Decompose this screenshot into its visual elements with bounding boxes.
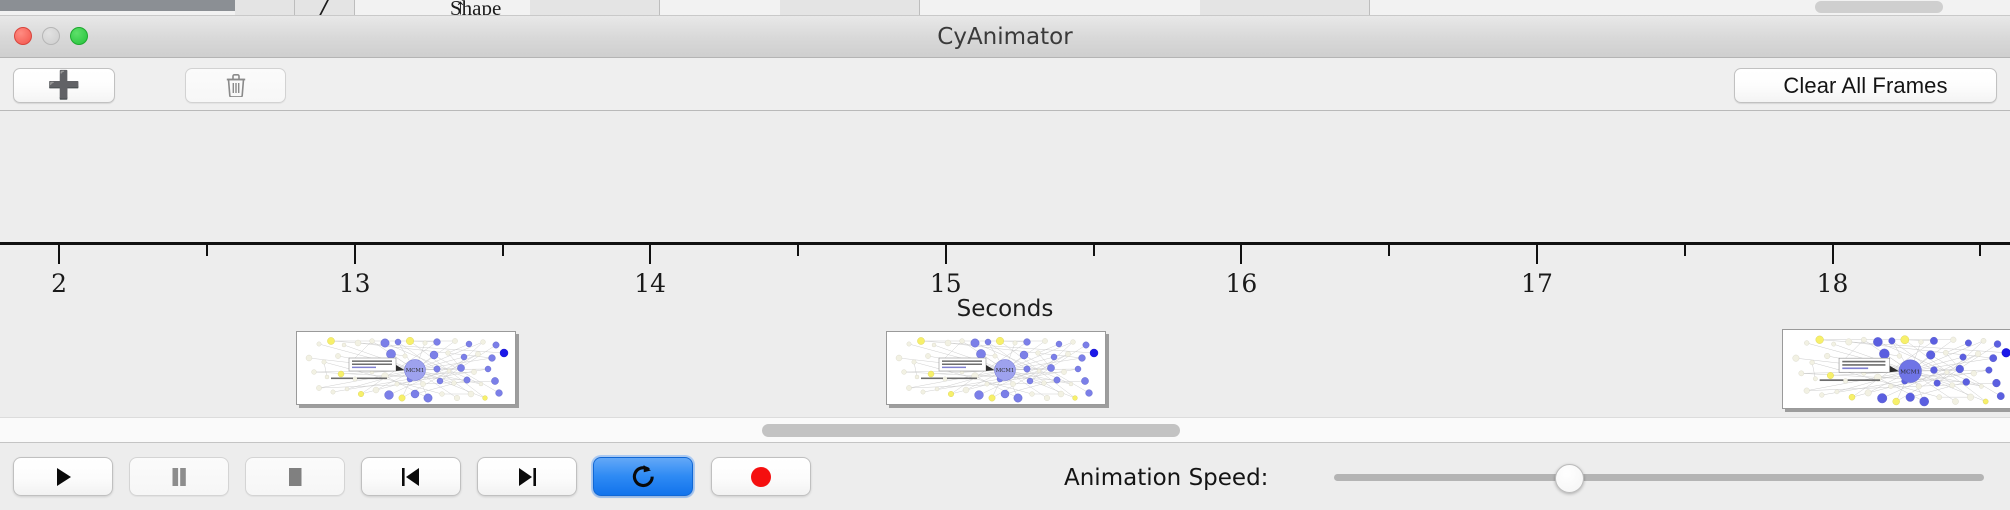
titlebar: CyAnimator bbox=[0, 16, 2010, 58]
svg-text:MCM1: MCM1 bbox=[406, 368, 425, 374]
axis-tick-label: 14 bbox=[634, 269, 666, 298]
add-frame-button[interactable]: ➕ bbox=[13, 68, 115, 103]
background-desktop-strip: ╱ ↑ Shape bbox=[0, 0, 2010, 16]
slider-track[interactable] bbox=[1334, 474, 1984, 481]
background-tile bbox=[780, 0, 920, 15]
background-tile bbox=[1200, 0, 1370, 15]
axis-tick-major bbox=[649, 245, 651, 264]
background-shape-label: Shape bbox=[450, 0, 501, 16]
slider-thumb[interactable] bbox=[1555, 464, 1584, 493]
axis-tick-minor bbox=[1093, 245, 1095, 256]
axis-tick-minor bbox=[1979, 245, 1981, 256]
background-tile bbox=[235, 0, 295, 15]
background-tile bbox=[530, 0, 660, 15]
axis-tick-label: 16 bbox=[1225, 269, 1257, 298]
axis-tick-major bbox=[1832, 245, 1834, 264]
skip-next-icon bbox=[514, 465, 540, 489]
toolbar: ➕ Clear All Frames bbox=[0, 58, 2010, 111]
skip-previous-icon bbox=[398, 465, 424, 489]
record-icon bbox=[749, 465, 773, 489]
previous-frame-button[interactable] bbox=[361, 457, 461, 496]
axis-line bbox=[0, 242, 2010, 245]
timeline-frame[interactable]: MCM1 bbox=[886, 331, 1106, 405]
axis-tick-major bbox=[354, 245, 356, 264]
animation-speed-slider[interactable] bbox=[1334, 457, 1984, 496]
loop-icon bbox=[630, 463, 657, 490]
background-scrollbar bbox=[1815, 1, 1943, 13]
svg-text:MCM1: MCM1 bbox=[996, 368, 1015, 374]
axis-tick-major bbox=[58, 245, 60, 264]
scrollbar-thumb[interactable] bbox=[762, 424, 1180, 437]
axis-tick-major bbox=[1536, 245, 1538, 264]
trash-icon bbox=[226, 74, 246, 97]
play-icon bbox=[51, 465, 75, 489]
axis-tick-label: 17 bbox=[1521, 269, 1553, 298]
timeline-axis: 2131415161718 bbox=[0, 242, 2010, 243]
window-title: CyAnimator bbox=[0, 16, 2010, 58]
axis-tick-major bbox=[1240, 245, 1242, 264]
axis-tick-minor bbox=[206, 245, 208, 256]
clear-all-frames-label: Clear All Frames bbox=[1783, 73, 1947, 99]
svg-text:MCM1: MCM1 bbox=[1900, 369, 1920, 375]
timeline-frame[interactable]: MCM1 bbox=[296, 331, 516, 405]
plus-icon: ➕ bbox=[47, 72, 81, 99]
axis-tick-label: 13 bbox=[339, 269, 371, 298]
background-glyph: ╱ bbox=[318, 0, 331, 16]
axis-tick-label: 15 bbox=[930, 269, 962, 298]
pause-icon bbox=[167, 465, 191, 489]
axis-tick-label: 18 bbox=[1817, 269, 1849, 298]
axis-tick-minor bbox=[797, 245, 799, 256]
timeline-panel[interactable]: MCM1MCM1MCM1 2131415161718 Seconds bbox=[0, 111, 2010, 417]
next-frame-button[interactable] bbox=[477, 457, 577, 496]
clear-all-frames-button[interactable]: Clear All Frames bbox=[1734, 68, 1997, 103]
timeline-frame[interactable]: MCM1 bbox=[1782, 329, 2010, 409]
loop-button[interactable] bbox=[593, 457, 693, 496]
stop-icon bbox=[283, 465, 307, 489]
axis-tick-minor bbox=[1684, 245, 1686, 256]
delete-frame-button[interactable] bbox=[185, 68, 286, 103]
axis-caption: Seconds bbox=[0, 296, 2010, 322]
axis-tick-minor bbox=[1388, 245, 1390, 256]
axis-tick-major bbox=[945, 245, 947, 264]
animation-speed-label: Animation Speed: bbox=[1064, 465, 1268, 491]
record-button[interactable] bbox=[711, 457, 811, 496]
timeline-scrollbar[interactable] bbox=[0, 417, 2010, 443]
playback-controls: Animation Speed: bbox=[0, 443, 2010, 510]
stop-button[interactable] bbox=[245, 457, 345, 496]
cyanimator-window: ╱ ↑ Shape CyAnimator ➕ Clear All Fram bbox=[0, 0, 2010, 510]
axis-tick-label: 2 bbox=[51, 269, 67, 298]
play-button[interactable] bbox=[13, 457, 113, 496]
axis-tick-minor bbox=[502, 245, 504, 256]
background-dark-panel bbox=[0, 0, 235, 11]
pause-button[interactable] bbox=[129, 457, 229, 496]
